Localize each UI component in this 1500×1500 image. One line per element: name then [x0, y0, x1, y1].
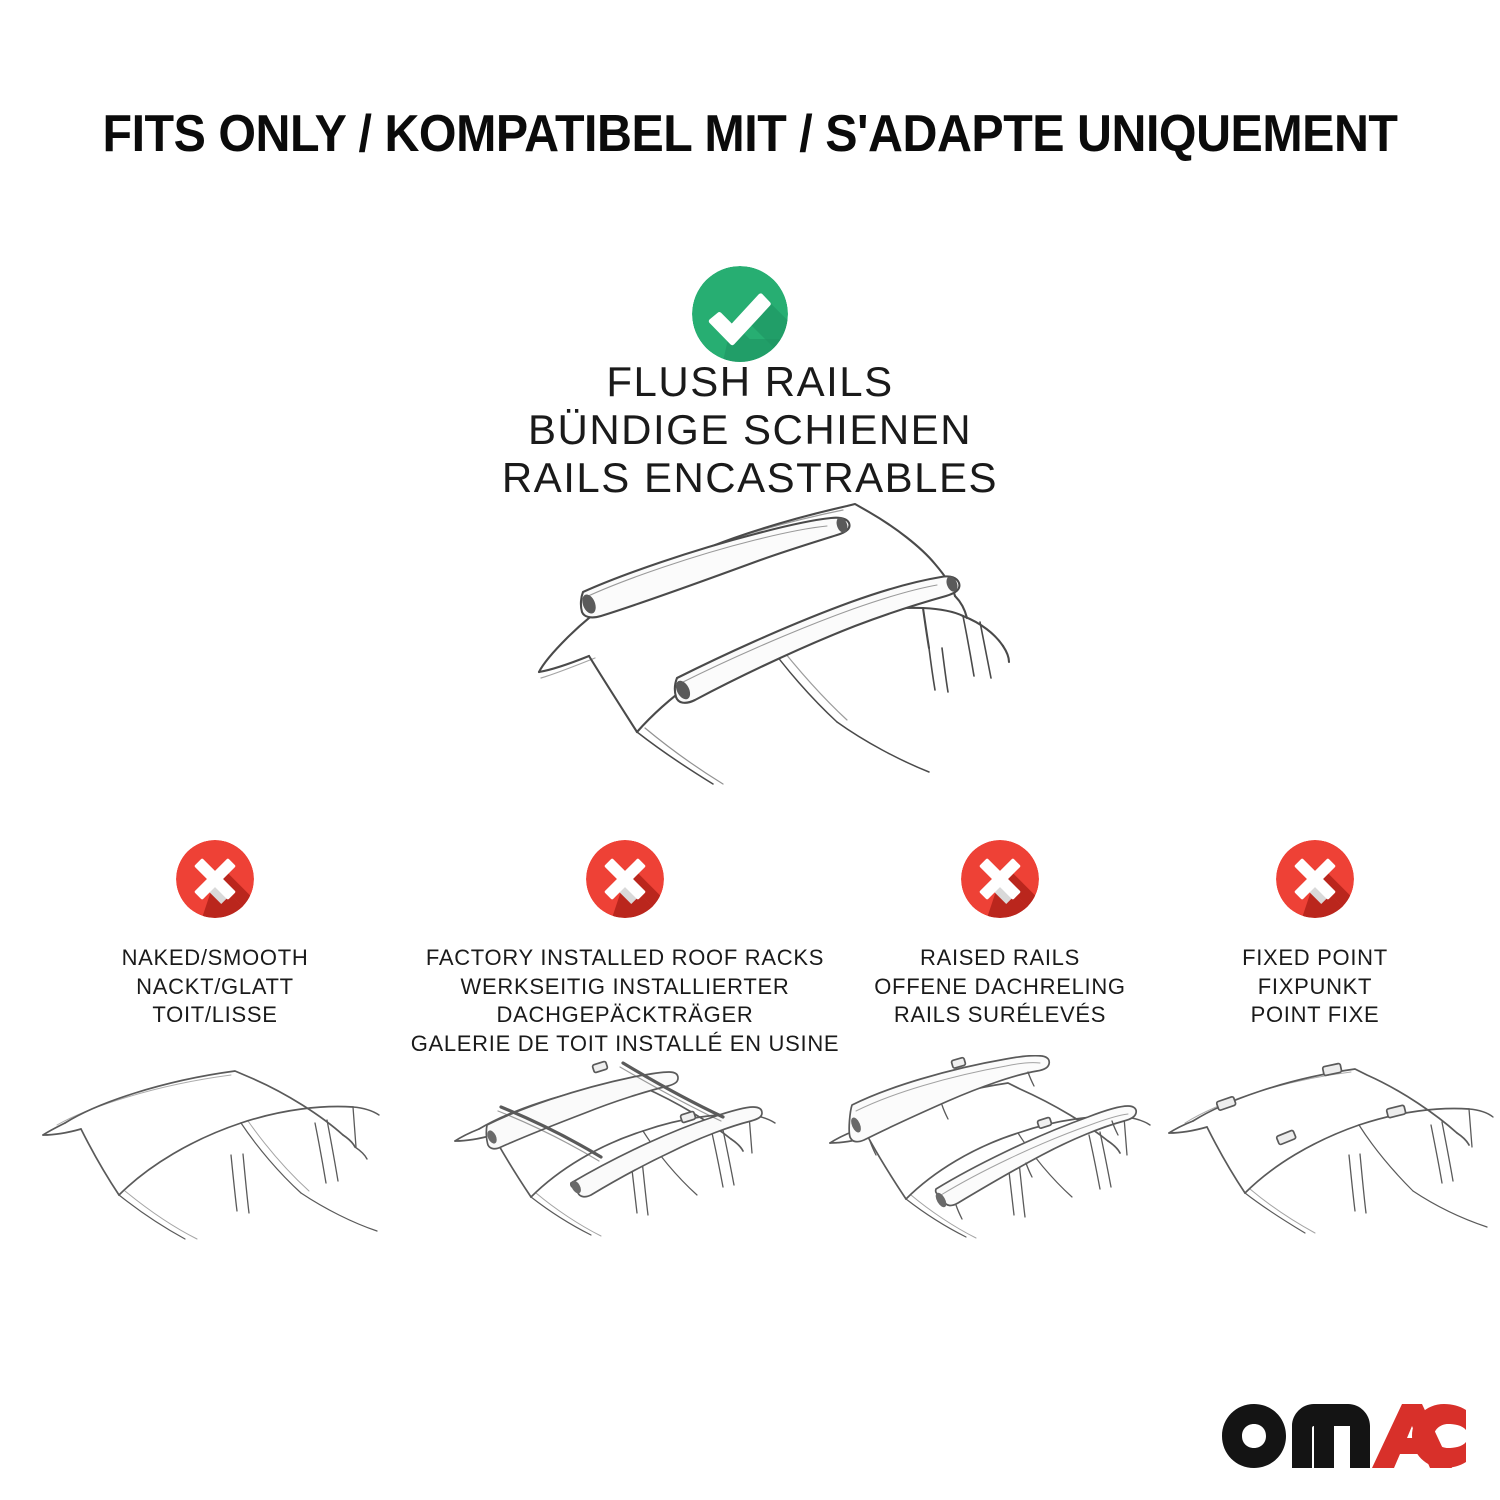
caption-line-de-2: DACHGEPÄCKTRÄGER [385, 1001, 865, 1030]
caption-line-fr: RAILS SURÉLEVÉS [805, 1001, 1195, 1030]
x-circle-icon [1276, 840, 1354, 918]
caption-line-fr: TOIT/LISSE [30, 1001, 400, 1030]
car-roof-flush-rails-illustration [455, 492, 1045, 792]
column-caption: FACTORY INSTALLED ROOF RACKS WERKSEITIG … [385, 944, 865, 1058]
car-roof-factory-roof-racks-illustration [435, 1055, 790, 1255]
caption-line-fr: POINT FIXE [1150, 1001, 1480, 1030]
x-circle-icon [586, 840, 664, 918]
caption-line-de-1: WERKSEITIG INSTALLIERTER [385, 973, 865, 1002]
caption-line-de: OFFENE DACHRELING [805, 973, 1195, 1002]
car-roof-raised-rails-illustration [810, 1055, 1165, 1255]
car-roof-naked-smooth-illustration [35, 1055, 390, 1255]
compatible-line-en: FLUSH RAILS [250, 358, 1250, 406]
omac-logo [1218, 1400, 1468, 1470]
caption-line-de: NACKT/GLATT [30, 973, 400, 1002]
caption-line-en: RAISED RAILS [805, 944, 1195, 973]
caption-line-en: FIXED POINT [1150, 944, 1480, 973]
compatible-line-de: BÜNDIGE SCHIENEN [250, 406, 1250, 454]
compatible-caption: FLUSH RAILS BÜNDIGE SCHIENEN RAILS ENCAS… [250, 358, 1250, 502]
logo-letter-m [1292, 1404, 1370, 1468]
caption-line-en: FACTORY INSTALLED ROOF RACKS [385, 944, 865, 973]
page-title: FITS ONLY / KOMPATIBEL MIT / S'ADAPTE UN… [53, 104, 1448, 164]
column-caption: NAKED/SMOOTH NACKT/GLATT TOIT/LISSE [30, 944, 400, 1030]
caption-line-de: FIXPUNKT [1150, 973, 1480, 1002]
column-caption: FIXED POINT FIXPUNKT POINT FIXE [1150, 944, 1480, 1030]
check-circle-icon [692, 266, 788, 362]
logo-letter-o [1222, 1404, 1286, 1468]
caption-line-en: NAKED/SMOOTH [30, 944, 400, 973]
x-circle-icon [176, 840, 254, 918]
column-caption: RAISED RAILS OFFENE DACHRELING RAILS SUR… [805, 944, 1195, 1030]
x-circle-icon [961, 840, 1039, 918]
fitment-infographic: FITS ONLY / KOMPATIBEL MIT / S'ADAPTE UN… [0, 0, 1500, 1500]
car-roof-fixed-point-illustration [1155, 1055, 1495, 1255]
